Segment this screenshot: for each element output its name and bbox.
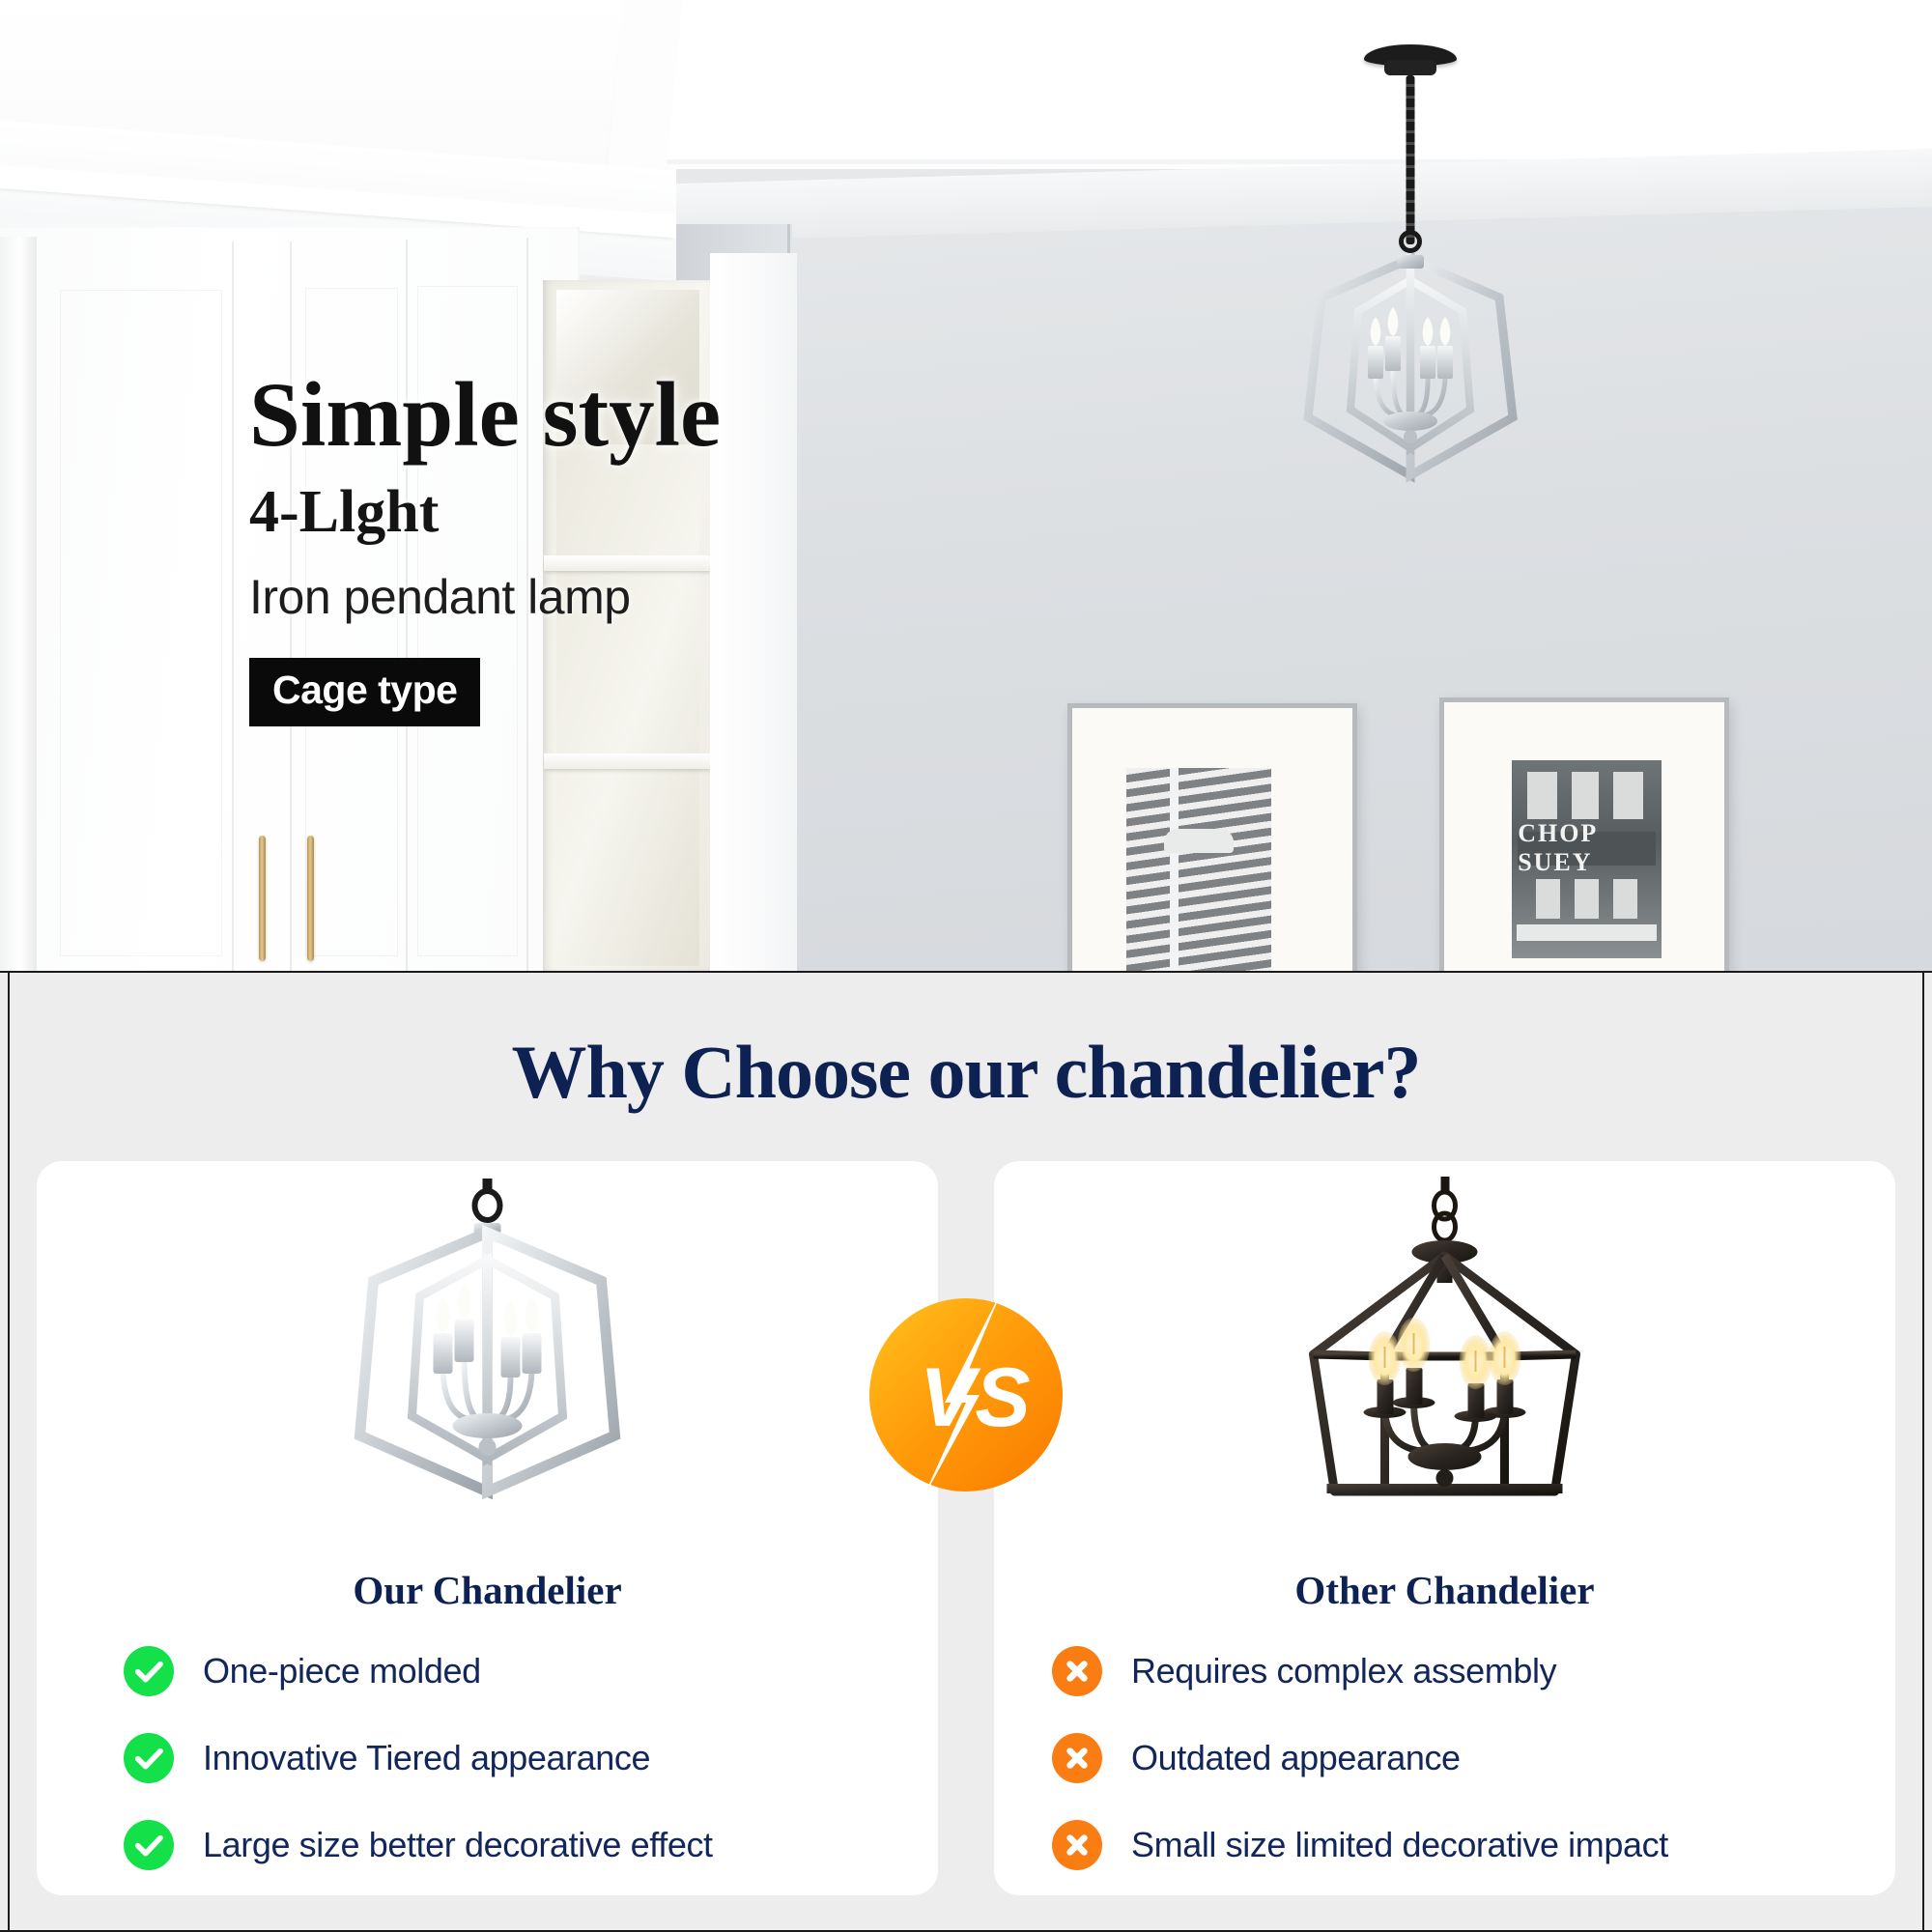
photo-blinds <box>1126 768 1271 971</box>
feature-label: Outdated appearance <box>1131 1738 1461 1778</box>
feature-item: One-piece molded <box>124 1646 915 1696</box>
cross-icon <box>1052 1733 1102 1783</box>
feature-item: Large size better decorative effect <box>124 1820 915 1870</box>
feature-item: Requires complex assembly <box>1052 1646 1872 1696</box>
wardrobe-panel-1 <box>60 290 222 956</box>
storefront-window-2 <box>1572 772 1599 819</box>
blinds-car-shape <box>1164 829 1234 853</box>
storefront-sign: CHOP SUEY <box>1518 832 1656 866</box>
wardrobe-seam-1 <box>232 241 234 971</box>
feature-item: Outdated appearance <box>1052 1733 1872 1783</box>
card-our-chandelier: Our Chandelier One-piece molded Innovati… <box>37 1161 938 1895</box>
wardrobe-handle-left[interactable] <box>259 836 266 961</box>
storefront-sign-text: CHOP SUEY <box>1518 819 1656 877</box>
other-chandelier-label: Other Chandelier <box>994 1567 1895 1613</box>
wardrobe-door-jamb <box>0 237 37 971</box>
black-chandelier-illustration <box>994 1173 1895 1549</box>
check-icon <box>124 1820 174 1870</box>
feature-label: One-piece molded <box>203 1651 481 1691</box>
cage-type-badge: Cage type <box>249 658 480 726</box>
feature-item: Small size limited decorative impact <box>1052 1820 1872 1870</box>
our-chandelier-label: Our Chandelier <box>37 1567 938 1613</box>
blinds-pattern <box>1126 768 1271 971</box>
storefront-window-3 <box>1613 772 1643 819</box>
card-other-chandelier: Other Chandelier Requires complex assemb… <box>994 1161 1895 1895</box>
storefront-door-1 <box>1536 879 1560 919</box>
feature-item: Innovative Tiered appearance <box>124 1733 915 1783</box>
cross-icon <box>1052 1820 1102 1870</box>
hero-subhead: 4-Llght <box>249 481 1119 544</box>
check-icon <box>124 1646 174 1696</box>
hero-copy: Simple style 4-Llght Iron pendant lamp C… <box>249 367 1119 726</box>
blinds-vertical-cord <box>1170 768 1179 971</box>
storefront-window-1 <box>1527 772 1557 819</box>
our-chandelier-features: One-piece molded Innovative Tiered appea… <box>37 1646 938 1870</box>
other-chandelier-features: Requires complex assembly Outdated appea… <box>994 1646 1895 1870</box>
our-chandelier-image <box>37 1173 938 1549</box>
storefront-door-3 <box>1613 879 1637 919</box>
shelf-2 <box>544 753 713 769</box>
comparison-panel: Why Choose our chandelier? <box>0 971 1932 1932</box>
storefront-awning <box>1517 924 1658 940</box>
feature-label: Small size limited decorative impact <box>1131 1825 1668 1865</box>
photo-chop-suey: CHOP SUEY <box>1512 760 1662 958</box>
feature-label: Large size better decorative effect <box>203 1825 713 1865</box>
check-icon <box>124 1733 174 1783</box>
silver-cage-frame <box>1285 39 1536 502</box>
comparison-title: Why Choose our chandelier? <box>0 1029 1932 1116</box>
vs-badge: VS <box>866 1294 1066 1495</box>
wardrobe-handle-right[interactable] <box>307 836 314 961</box>
comparison-cards: Our Chandelier One-piece molded Innovati… <box>37 1161 1895 1895</box>
silver-chandelier-illustration <box>37 1173 938 1549</box>
feature-label: Requires complex assembly <box>1131 1651 1556 1691</box>
other-chandelier-image <box>994 1173 1895 1549</box>
feature-label: Innovative Tiered appearance <box>203 1738 650 1778</box>
hero-section: CHOP SUEY <box>0 0 1932 971</box>
cross-icon <box>1052 1646 1102 1696</box>
hero-chandelier <box>1285 39 1536 502</box>
picture-frame-blinds <box>1067 703 1357 971</box>
hero-headline: Simple style <box>249 367 1119 464</box>
hero-description: Iron pendant lamp <box>249 569 1119 625</box>
picture-frame-chop-suey: CHOP SUEY <box>1439 697 1729 971</box>
storefront-door-2 <box>1575 879 1599 919</box>
